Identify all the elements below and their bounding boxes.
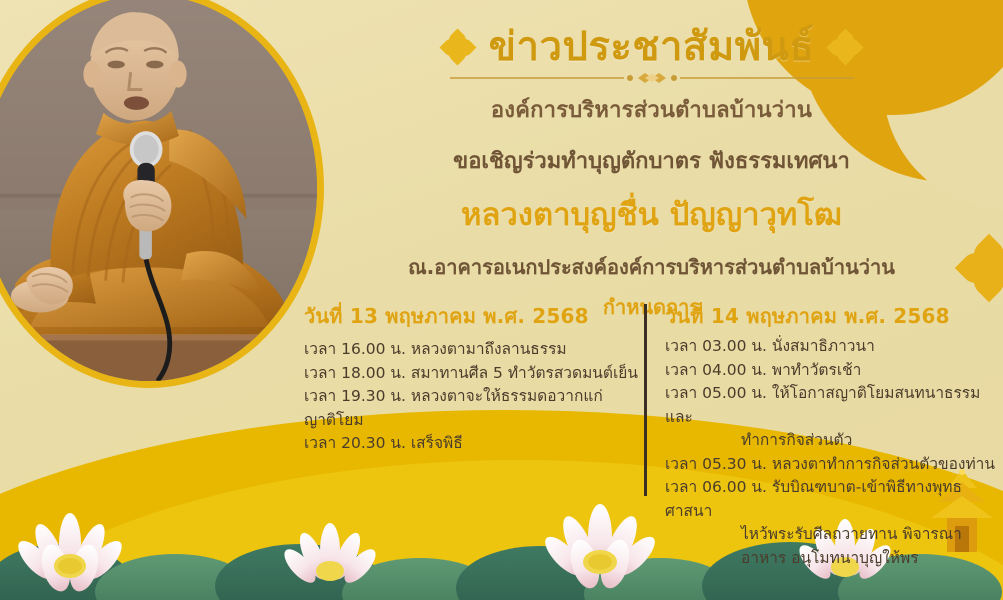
schedule-item: เวลา 19.30 น. หลวงตาจะให้ธรรมดอวากแก่ญาต… bbox=[304, 385, 644, 432]
title-divider bbox=[442, 71, 862, 85]
schedule-item: เวลา 05.30 น. หลวงตาทำการกิจส่วนตัวของท่… bbox=[665, 453, 1003, 477]
day1-heading: วันที่ 13 พฤษภาคม พ.ศ. 2568 bbox=[304, 300, 644, 332]
schedule-item-text: เวลา 06.00 น. รับบิณฑบาต-เข้าพิธีทางพุทธ… bbox=[665, 478, 962, 520]
poster-content: ข่าวประชาสัมพันธ์ องค์การบริหารส่วนตำบลบ… bbox=[300, 0, 1003, 600]
schedule-item-continuation: ไหว้พระรับศีลถวายทาน พิจารณา bbox=[665, 523, 1003, 547]
day2-heading: วันที่ 14 พฤษภาคม พ.ศ. 2568 bbox=[665, 300, 1003, 332]
invitation-line: ขอเชิญร่วมทำบุญตักบาตร ฟังธรรมเทศนา bbox=[300, 143, 1003, 178]
schedule-item: เวลา 20.30 น. เสร็จพิธี bbox=[304, 432, 644, 456]
venue-line: ณ.อาคารอเนกประสงค์องค์การบริหารส่วนตำบลบ… bbox=[300, 251, 1003, 283]
poster-canvas: ข่าวประชาสัมพันธ์ องค์การบริหารส่วนตำบลบ… bbox=[0, 0, 1003, 600]
schedule-item: เวลา 06.00 น. รับบิณฑบาต-เข้าพิธีทางพุทธ… bbox=[665, 476, 1003, 570]
day1-items: เวลา 16.00 น. หลวงตามาถึงลานธรรมเวลา 18.… bbox=[304, 338, 644, 456]
photo-ring bbox=[0, 0, 324, 388]
monk-photo-image bbox=[0, 0, 317, 381]
monk-name: หลวงตาบุญชื่น ปัญญาวุทโฒ bbox=[300, 189, 1003, 239]
organization-name: องค์การบริหารส่วนตำบลบ้านว่าน bbox=[300, 92, 1003, 127]
schedule-item-continuation: อาหาร อนุโมทนาบุญให้พร bbox=[665, 547, 1003, 571]
quatrefoil-ornament-left-icon bbox=[443, 32, 473, 62]
schedule-item-text: เวลา 03.00 น. นั่งสมาธิภาวนา bbox=[665, 337, 875, 355]
schedule-item-text: เวลา 20.30 น. เสร็จพิธี bbox=[304, 434, 463, 452]
page-title: ข่าวประชาสัมพันธ์ bbox=[489, 26, 815, 68]
schedule-column-day1: วันที่ 13 พฤษภาคม พ.ศ. 2568 เวลา 16.00 น… bbox=[294, 300, 644, 456]
schedule-item-text: เวลา 19.30 น. หลวงตาจะให้ธรรมดอวากแก่ญาต… bbox=[304, 387, 603, 429]
monk-photo bbox=[0, 0, 324, 388]
schedule-item-text: เวลา 18.00 น. สมาทานศีล 5 ทำวัตรสวดมนต์เ… bbox=[304, 364, 638, 382]
schedule-item: เวลา 04.00 น. พาทำวัตรเช้า bbox=[665, 359, 1003, 383]
schedule-item-text: เวลา 04.00 น. พาทำวัตรเช้า bbox=[665, 361, 861, 379]
schedule-item-text: เวลา 05.00 น. ให้โอกาสญาติโยมสนทนาธรรมแล… bbox=[665, 384, 980, 426]
schedule-item: เวลา 18.00 น. สมาทานศีล 5 ทำวัตรสวดมนต์เ… bbox=[304, 362, 644, 386]
schedule-item-continuation: ทำการกิจส่วนตัว bbox=[665, 429, 1003, 453]
day2-items: เวลา 03.00 น. นั่งสมาธิภาวนาเวลา 04.00 น… bbox=[665, 335, 1003, 570]
column-divider bbox=[644, 304, 647, 496]
schedule-item-text: เวลา 16.00 น. หลวงตามาถึงลานธรรม bbox=[304, 340, 567, 358]
schedule-item: เวลา 16.00 น. หลวงตามาถึงลานธรรม bbox=[304, 338, 644, 362]
schedule-item: เวลา 05.00 น. ให้โอกาสญาติโยมสนทนาธรรมแล… bbox=[665, 382, 1003, 453]
schedule-item-text: เวลา 05.30 น. หลวงตาทำการกิจส่วนตัวของท่… bbox=[665, 455, 995, 473]
quatrefoil-ornament-right-icon bbox=[830, 32, 860, 62]
schedule-column-day2: วันที่ 14 พฤษภาคม พ.ศ. 2568 เวลา 03.00 น… bbox=[653, 300, 1003, 570]
schedule-section: วันที่ 13 พฤษภาคม พ.ศ. 2568 เวลา 16.00 น… bbox=[294, 300, 1003, 570]
schedule-item: เวลา 03.00 น. นั่งสมาธิภาวนา bbox=[665, 335, 1003, 359]
title-row: ข่าวประชาสัมพันธ์ bbox=[300, 26, 1003, 68]
